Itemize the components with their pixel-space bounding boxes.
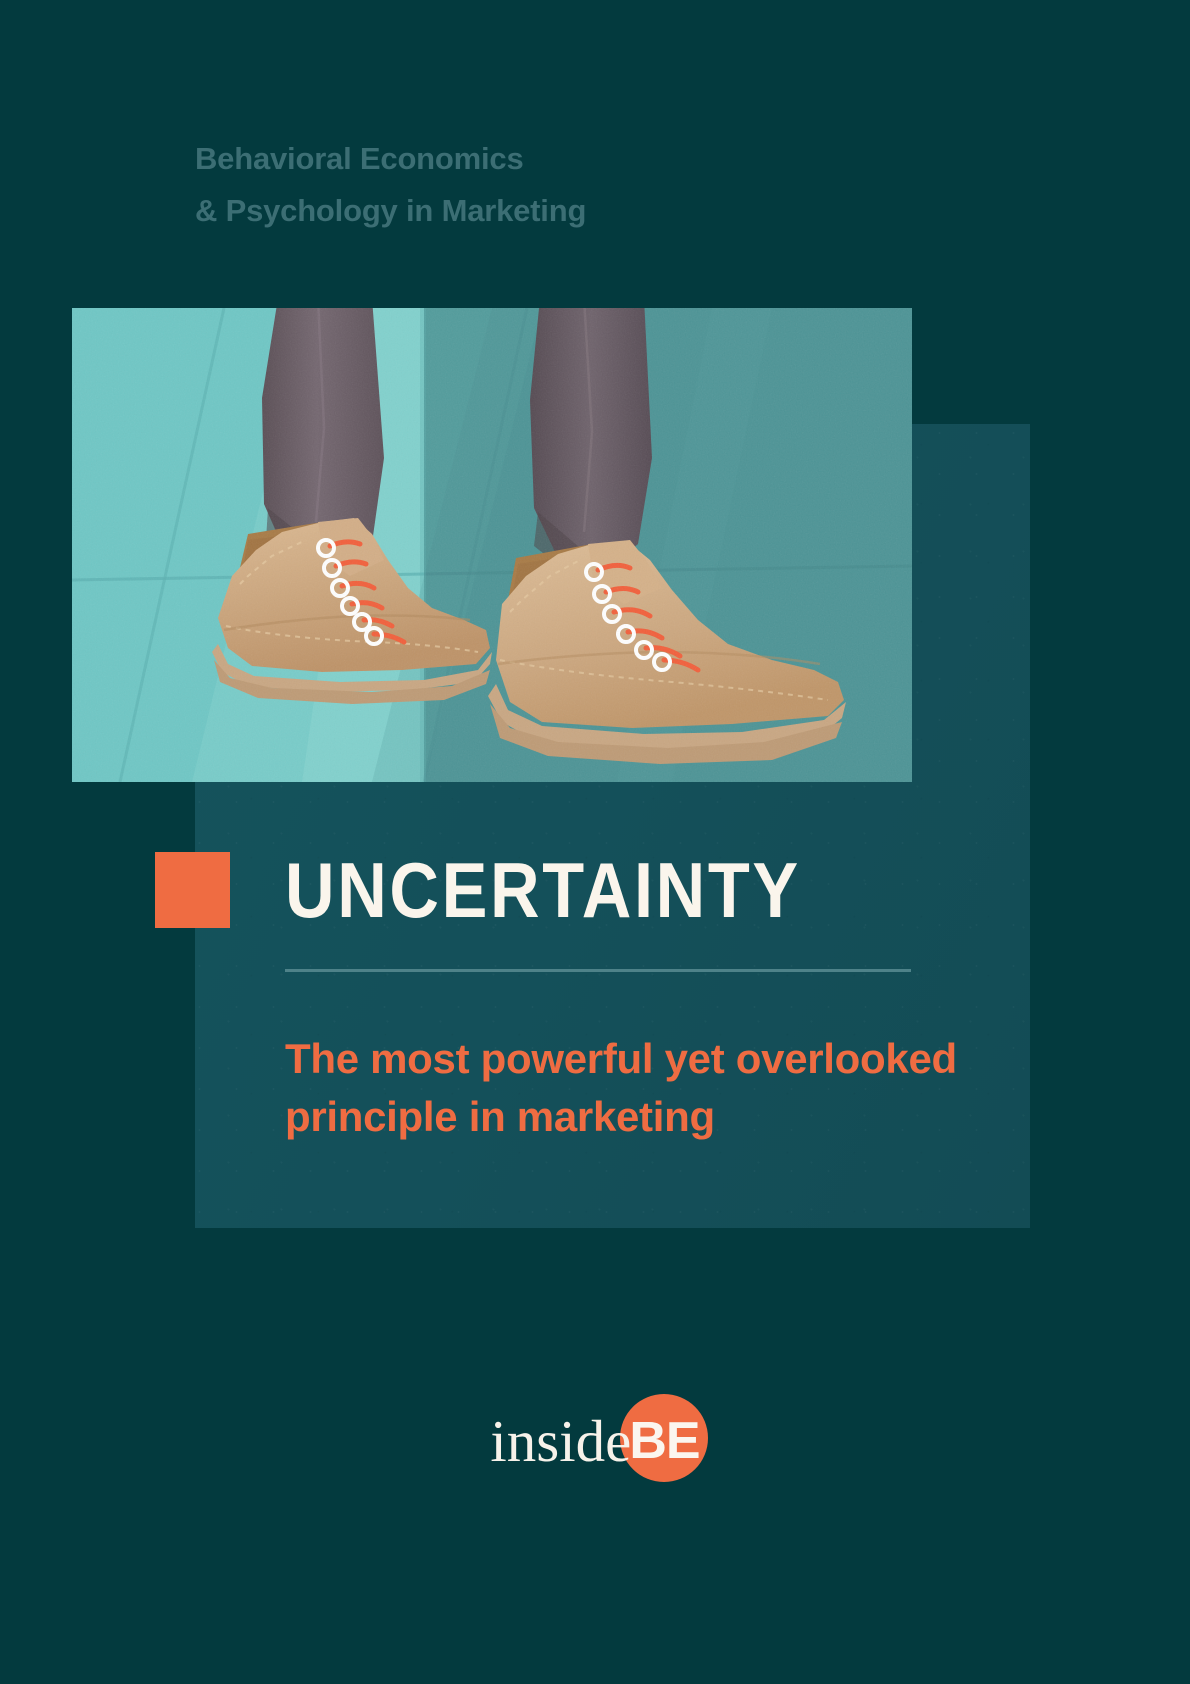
title-divider [285, 969, 911, 972]
accent-square [155, 852, 230, 928]
poster-canvas: Behavioral Economics & Psychology in Mar… [0, 0, 1190, 1684]
kicker-line-2: & Psychology in Marketing [195, 185, 835, 237]
kicker-heading: Behavioral Economics & Psychology in Mar… [195, 133, 835, 237]
logo-wordmark-be: BE [629, 1415, 699, 1467]
hero-illustration [72, 308, 912, 782]
page-title: UNCERTAINTY [285, 848, 801, 932]
logo-wordmark-inside: inside [490, 1412, 633, 1471]
subtitle-line-1: The most powerful yet overlooked [285, 1030, 1005, 1088]
brand-logo: inside BE [0, 1398, 1190, 1484]
subtitle-line-2: principle in marketing [285, 1088, 1005, 1146]
subtitle: The most powerful yet overlooked princip… [285, 1030, 1005, 1146]
kicker-line-1: Behavioral Economics [195, 133, 835, 185]
logo-lockup: inside BE [490, 1398, 699, 1484]
boots-illustration-svg [72, 308, 912, 782]
